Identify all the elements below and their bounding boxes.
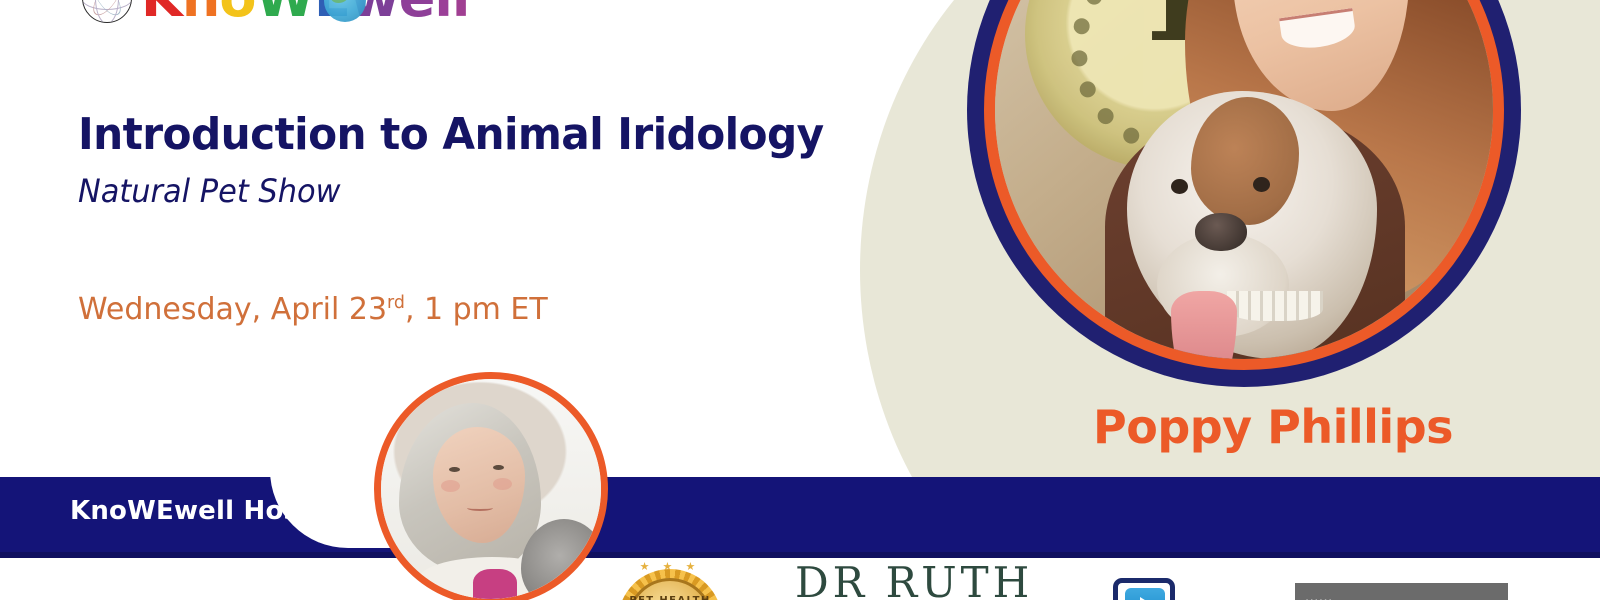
- speaker-name: Poppy Phillips: [1093, 404, 1453, 450]
- logo-letter-l2: l: [452, 0, 470, 25]
- knowewell-wordmark: KnoWEwell ®: [141, 0, 469, 25]
- knowewell-logo[interactable]: KnoWEwell ®: [82, 0, 469, 30]
- page-subtitle: Natural Pet Show: [78, 172, 340, 210]
- page-title: Introduction to Animal Iridology: [78, 112, 824, 158]
- promo-banner: KnoWEwell ® Introduction to Animal Irido…: [0, 0, 1600, 600]
- globe-icon: [82, 0, 132, 23]
- schedule-text: Wednesday, April 23rd, 1 pm ET: [78, 292, 548, 328]
- speaker-avatar: L: [984, 0, 1504, 370]
- logo-letter-o: o: [219, 0, 255, 25]
- logo-letter-w-cap: W: [255, 0, 314, 25]
- schedule-ordinal: rd: [387, 293, 405, 313]
- logo-letter-l1: l: [434, 0, 452, 25]
- sponsor-dr-ruth[interactable]: DR RUTH: [795, 562, 1033, 600]
- seal-stars: ★ ★ ★: [618, 560, 722, 573]
- host-label: KnoWEwell Host:: [70, 496, 322, 526]
- schedule-time: , 1 pm ET: [405, 292, 548, 327]
- seal-text: PET HEALTH: [618, 595, 722, 600]
- video-play-icon[interactable]: [1113, 578, 1175, 600]
- host-avatar: [374, 372, 608, 600]
- logo-letter-e: e: [399, 0, 435, 25]
- logo-letter-k: K: [141, 0, 182, 25]
- sponsor-gray-banner[interactable]: ......: [1295, 583, 1508, 600]
- sponsor-gray-banner-text: ......: [1305, 590, 1333, 600]
- schedule-day: Wednesday, April 23: [78, 292, 387, 327]
- logo-letter-n: n: [182, 0, 219, 25]
